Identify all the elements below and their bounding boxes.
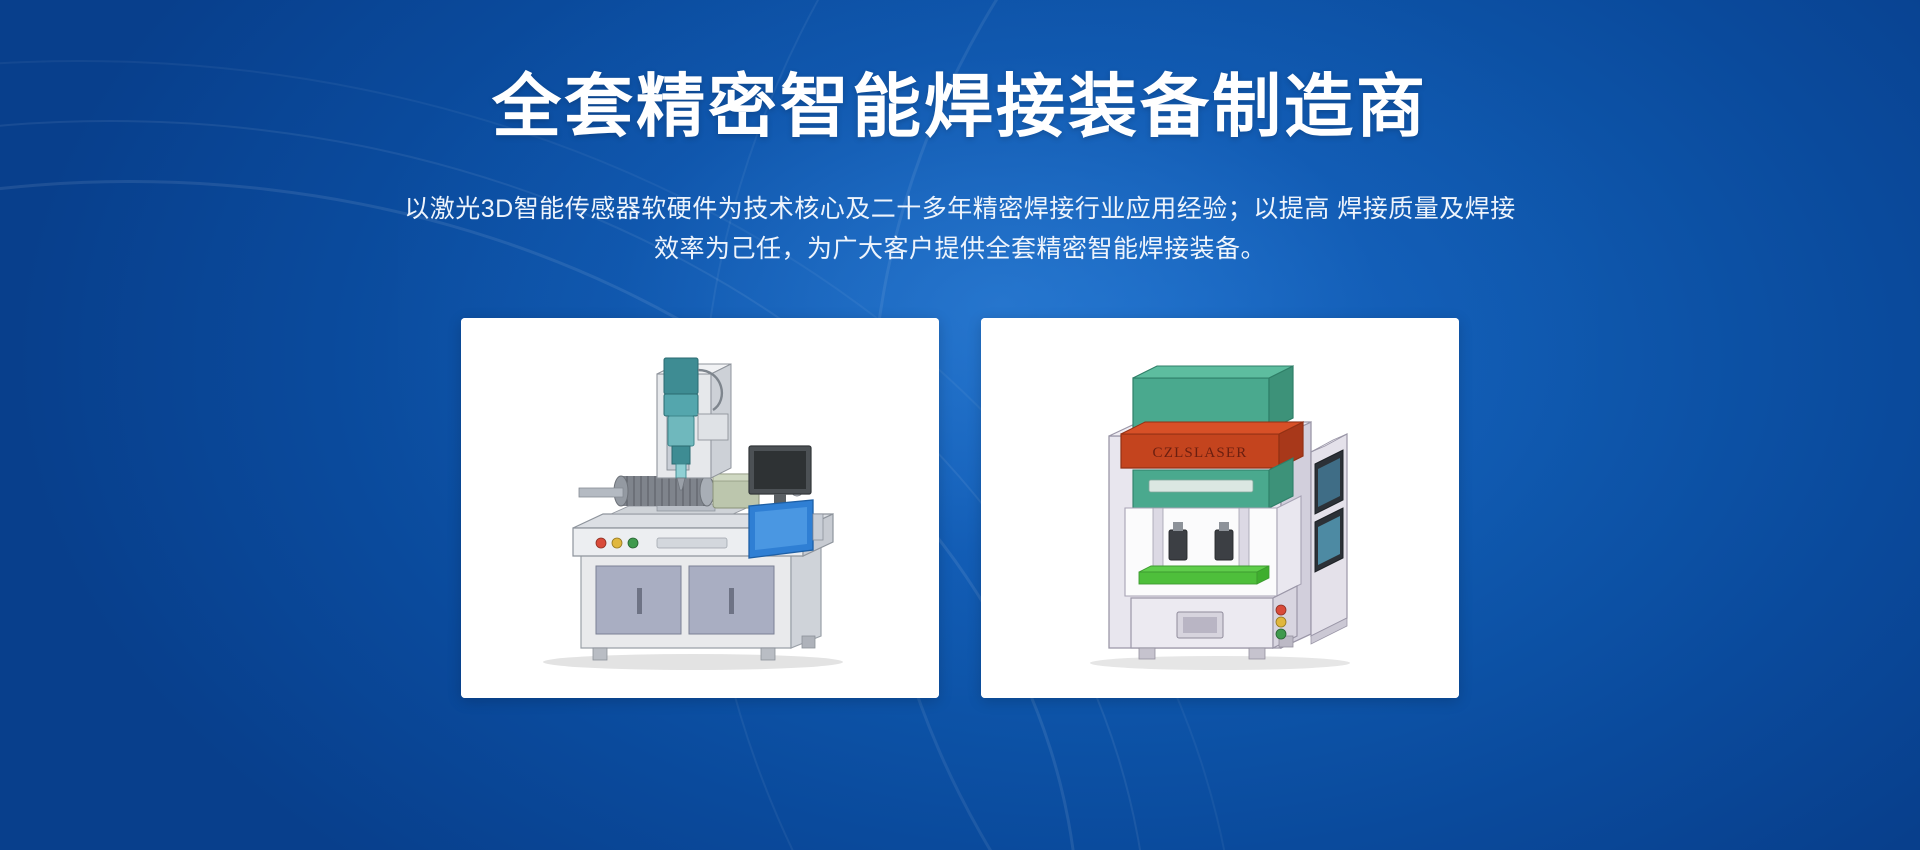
precision-welding-machine-illustration bbox=[461, 318, 939, 698]
brand-text: CZLSLASER bbox=[1153, 445, 1248, 461]
subtitle-line-1: 以激光3D智能传感器软硬件为技术核心及二十多年精密焊接行业应用经验；以提高 bbox=[404, 195, 1329, 223]
banner-content: 全套精密智能焊接装备制造商 以激光3D智能传感器软硬件为技术核心及二十多年精密焊… bbox=[0, 66, 1920, 698]
product-card-1[interactable]: 精密焊接工作台设备图 bbox=[461, 318, 939, 698]
hero-banner: 全套精密智能焊接装备制造商 以激光3D智能传感器软硬件为技术核心及二十多年精密焊… bbox=[0, 0, 1920, 850]
product-image-row: 精密焊接工作台设备图 bbox=[0, 318, 1920, 698]
product-card-2[interactable]: CZLSLASER bbox=[981, 318, 1459, 698]
page-title: 全套精密智能焊接装备制造商 bbox=[0, 66, 1920, 149]
laser-welding-cabinet-illustration: CZLSLASER bbox=[981, 318, 1459, 698]
page-subtitle: 以激光3D智能传感器软硬件为技术核心及二十多年精密焊接行业应用经验；以提高 焊接… bbox=[395, 189, 1525, 270]
